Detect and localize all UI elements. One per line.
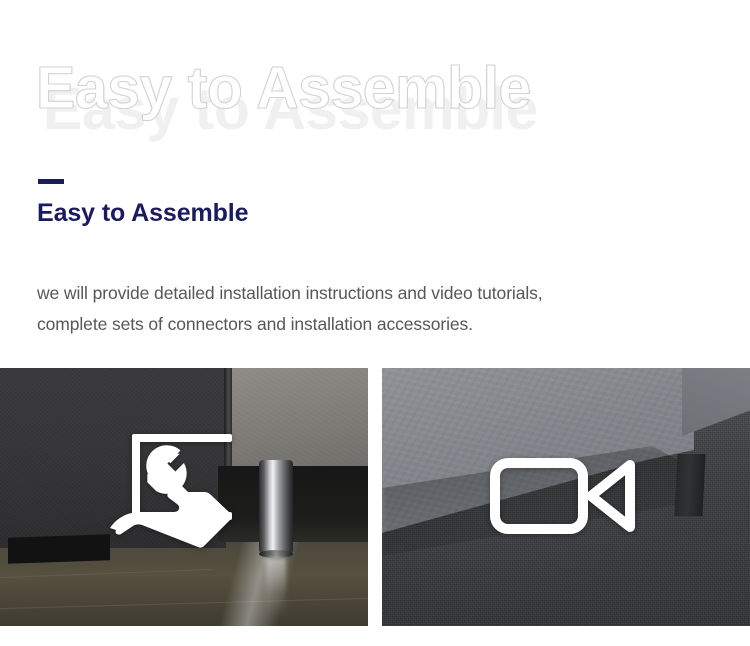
video-tutorial-photo [382, 368, 750, 626]
under-sofa-shadow [218, 466, 368, 542]
watermark-title: Easy to Assemble Easy to Assemble [36, 58, 726, 128]
heading-accent-rule [38, 179, 64, 184]
dark-sofa-base [0, 368, 226, 548]
section-description: we will provide detailed installation in… [37, 278, 737, 340]
page-title: Easy to Assemble [37, 198, 248, 228]
dark-sofa-leg [674, 454, 705, 516]
assembly-instructions-photo [0, 368, 368, 626]
description-line-2: complete sets of connectors and installa… [37, 309, 737, 340]
chrome-sofa-leg [259, 460, 293, 556]
video-photo-scene [382, 368, 750, 626]
easy-to-assemble-section: Easy to Assemble Easy to Assemble Easy t… [0, 0, 750, 646]
sofa-baseboard [8, 534, 110, 564]
leg-floor-reflection [266, 558, 286, 620]
chrome-leg-cap [259, 550, 293, 558]
watermark-title-outline: Easy to Assemble [36, 58, 531, 118]
assembly-photo-scene [0, 368, 368, 626]
light-sofa-panel [232, 368, 368, 472]
watermark-title-shadow: Easy to Assemble [43, 79, 538, 139]
description-line-1: we will provide detailed installation in… [37, 278, 737, 309]
photo-row [0, 368, 750, 626]
